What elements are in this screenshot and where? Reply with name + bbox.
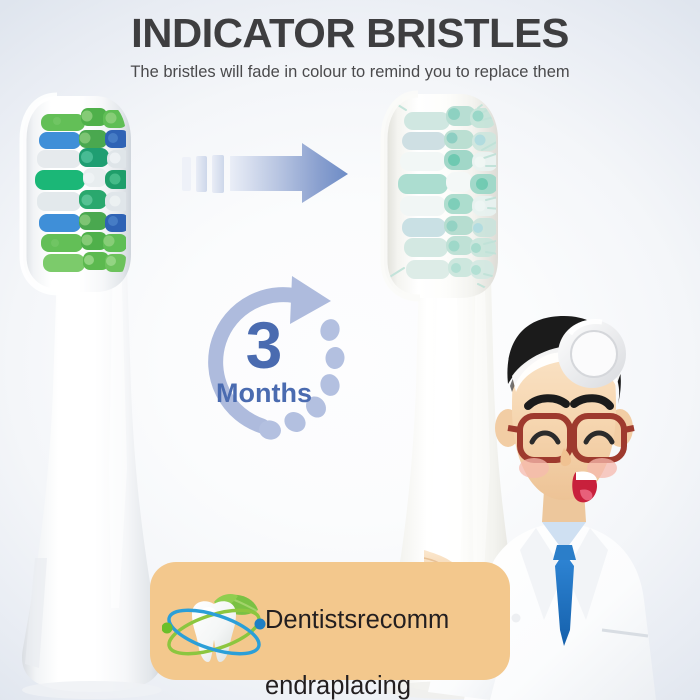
banner-line-2: endraplacing bbox=[265, 670, 515, 700]
orbit-dot-green bbox=[162, 623, 173, 634]
banner-text: Dentistsrecomm endraplacing every 3 mont… bbox=[265, 571, 515, 700]
page-subtitle: The bristles will fade in colour to remi… bbox=[0, 62, 700, 82]
arrow-dash-1 bbox=[182, 157, 191, 191]
dial-arrow-head bbox=[290, 276, 331, 324]
banner-line-1: Dentistsrecomm bbox=[265, 604, 515, 637]
header-block: INDICATOR BRISTLES The bristles will fad… bbox=[0, 0, 700, 82]
arrow-dash-3 bbox=[212, 155, 224, 193]
arrow-dash-2 bbox=[196, 156, 207, 192]
orbit-dot-blue bbox=[255, 619, 266, 630]
dial-unit: Months bbox=[216, 378, 312, 408]
head-mirror bbox=[558, 320, 626, 388]
fade-progress-arrow bbox=[180, 143, 350, 205]
tooth-orbit-icon bbox=[162, 588, 266, 670]
recommendation-banner: Dentistsrecomm endraplacing every 3 mont… bbox=[150, 562, 510, 680]
dial-number: 3 bbox=[246, 308, 283, 382]
tie-knot bbox=[553, 545, 576, 560]
page-title: INDICATOR BRISTLES bbox=[0, 11, 700, 55]
arrow-body bbox=[230, 143, 348, 203]
infographic-canvas: INDICATOR BRISTLES The bristles will fad… bbox=[0, 0, 700, 700]
dentist-cheek-left bbox=[519, 458, 549, 478]
three-months-dial: 3 Months bbox=[180, 268, 366, 454]
